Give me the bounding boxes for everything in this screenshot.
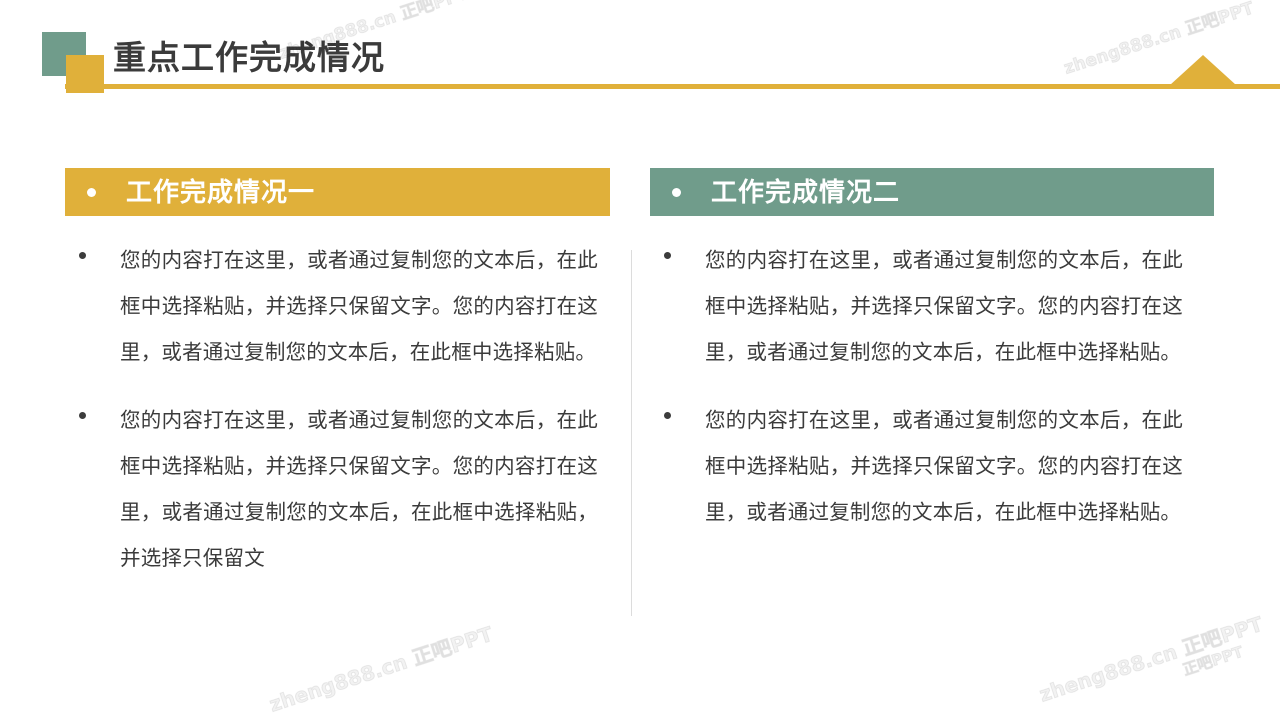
column-left-bullet-list: 您的内容打在这里，或者通过复制您的文本后，在此框中选择粘贴，并选择只保留文字。您…	[65, 238, 610, 582]
bullet-dot-icon	[664, 252, 671, 259]
column-left-header: 工作完成情况一	[65, 168, 610, 216]
column-right-header: 工作完成情况二	[650, 168, 1214, 216]
list-item: 您的内容打在这里，或者通过复制您的文本后，在此框中选择粘贴，并选择只保留文字。您…	[650, 238, 1214, 376]
slide-header: 重点工作完成情况	[0, 0, 1280, 110]
slide-canvas: 重点工作完成情况 工作完成情况一 您的内容打在这里，或者通过复制您的文本后，在此…	[0, 0, 1280, 720]
list-item: 您的内容打在这里，或者通过复制您的文本后，在此框中选择粘贴，并选择只保留文字。您…	[650, 398, 1214, 536]
list-item-text: 您的内容打在这里，或者通过复制您的文本后，在此框中选择粘贴，并选择只保留文字。您…	[705, 398, 1183, 536]
bullet-dot-icon	[664, 412, 671, 419]
bullet-dot-icon	[79, 252, 86, 259]
list-item-text: 您的内容打在这里，或者通过复制您的文本后，在此框中选择粘贴，并选择只保留文字。您…	[120, 238, 598, 376]
content-columns: 工作完成情况一 您的内容打在这里，或者通过复制您的文本后，在此框中选择粘贴，并选…	[0, 168, 1280, 648]
column-right: 工作完成情况二 您的内容打在这里，或者通过复制您的文本后，在此框中选择粘贴，并选…	[650, 168, 1214, 558]
bullet-dot-icon	[87, 188, 96, 197]
column-right-bullet-list: 您的内容打在这里，或者通过复制您的文本后，在此框中选择粘贴，并选择只保留文字。您…	[650, 238, 1214, 536]
list-item-text: 您的内容打在这里，或者通过复制您的文本后，在此框中选择粘贴，并选择只保留文字。您…	[705, 238, 1183, 376]
header-triangle-marker	[1170, 55, 1236, 85]
column-divider	[631, 250, 632, 616]
bullet-dot-icon	[672, 188, 681, 197]
column-right-header-label: 工作完成情况二	[711, 177, 900, 207]
list-item: 您的内容打在这里，或者通过复制您的文本后，在此框中选择粘贴，并选择只保留文字。您…	[65, 238, 610, 376]
column-left: 工作完成情况一 您的内容打在这里，或者通过复制您的文本后，在此框中选择粘贴，并选…	[65, 168, 610, 604]
page-title: 重点工作完成情况	[113, 36, 385, 80]
bullet-dot-icon	[79, 412, 86, 419]
list-item: 您的内容打在这里，或者通过复制您的文本后，在此框中选择粘贴，并选择只保留文字。您…	[65, 398, 610, 582]
header-rule-line	[65, 84, 1280, 89]
list-item-text: 您的内容打在这里，或者通过复制您的文本后，在此框中选择粘贴，并选择只保留文字。您…	[120, 398, 598, 582]
column-left-header-label: 工作完成情况一	[126, 177, 315, 207]
